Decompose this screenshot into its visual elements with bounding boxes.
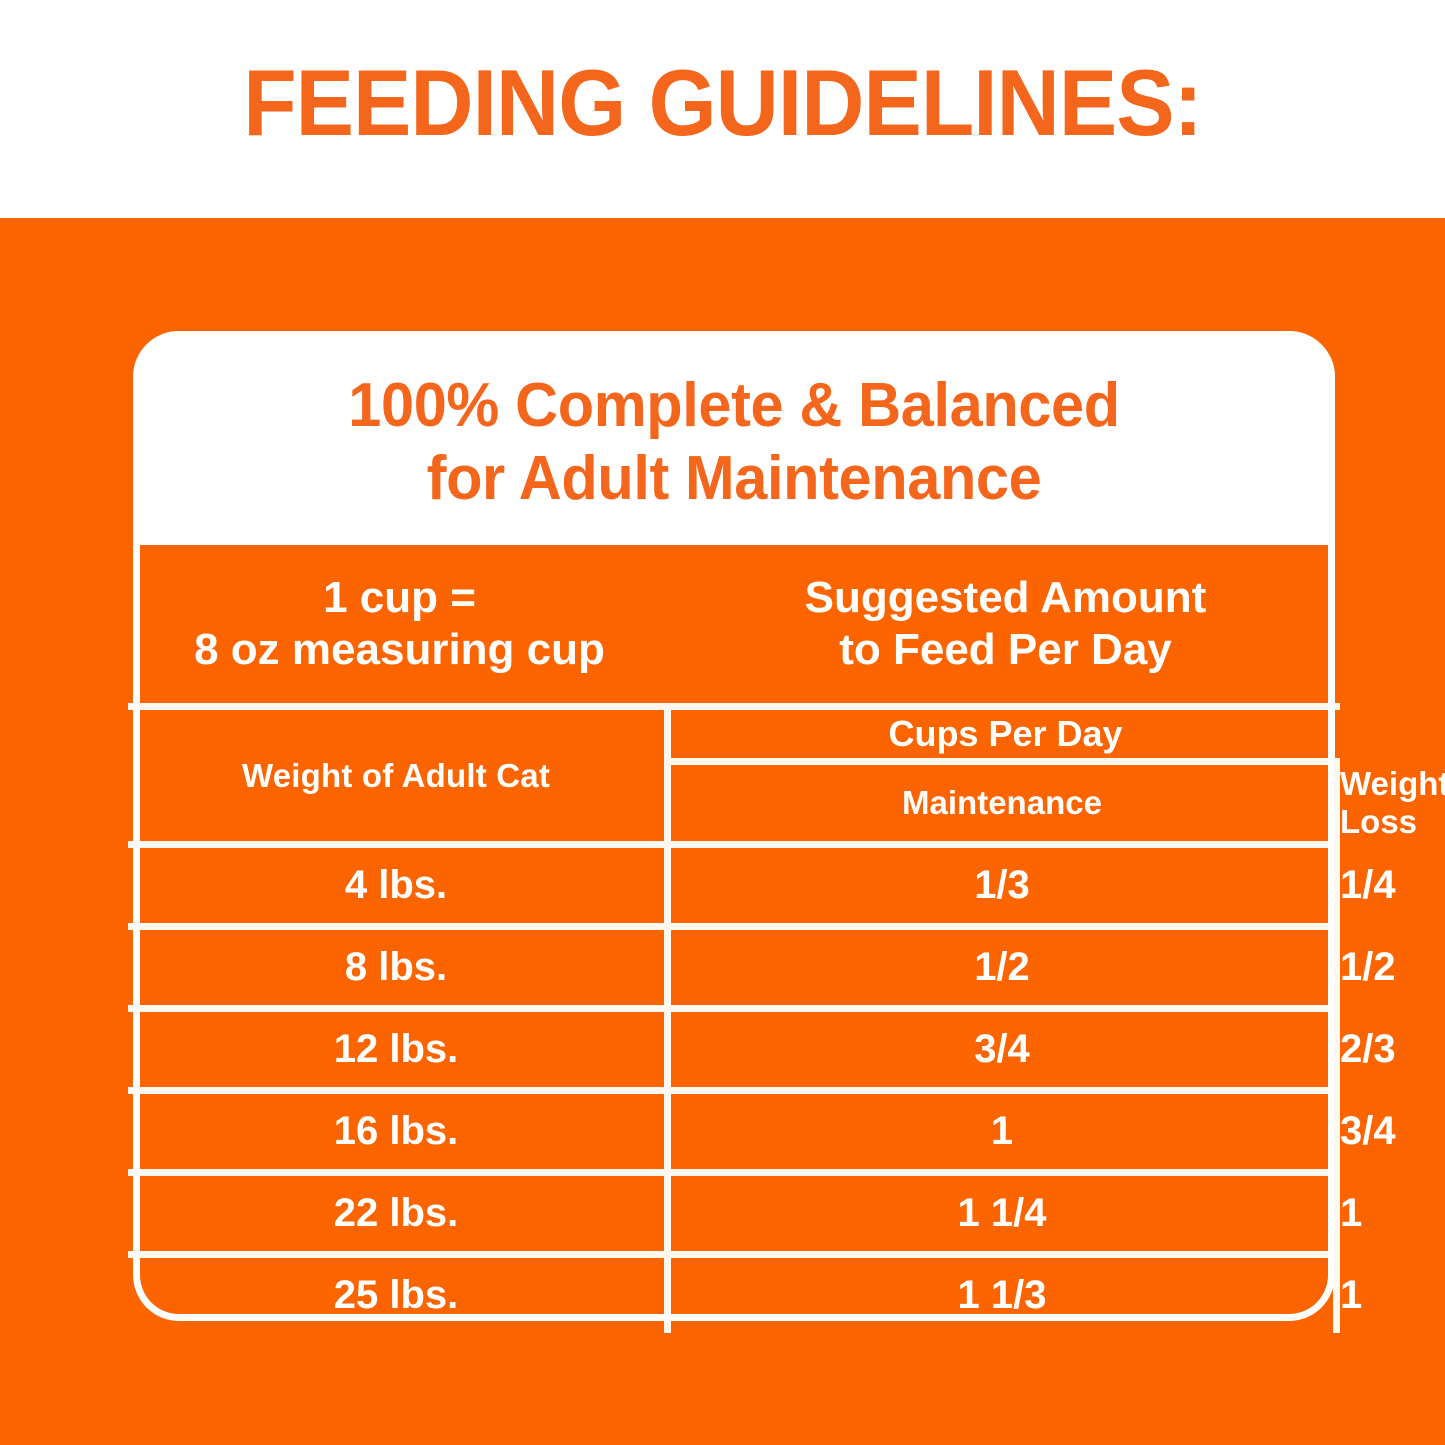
banner-cup-definition-line-1: 1 cup =	[128, 572, 671, 624]
guidelines-card: 100% Complete & Balanced for Adult Maint…	[133, 331, 1335, 1321]
cell-weight: 22 lbs.	[128, 1169, 671, 1251]
cell-maintenance: 1	[671, 1087, 1340, 1169]
banner-suggested-amount-line-2: to Feed Per Day	[671, 624, 1340, 676]
table-row: 25 lbs. 1 1/3 1	[128, 1251, 1340, 1333]
header-cups-per-day: Cups Per Day	[671, 703, 1340, 765]
table-row: 16 lbs. 1 3/4	[128, 1087, 1340, 1169]
cell-weight: 4 lbs.	[128, 841, 671, 923]
card-heading-line-2: for Adult Maintenance	[157, 442, 1311, 515]
feeding-guidelines-panel: FEEDING GUIDELINES: 100% Complete & Bala…	[0, 0, 1445, 1445]
cell-maintenance: 1 1/3	[671, 1251, 1340, 1333]
table-row: 8 lbs. 1/2 1/2	[128, 923, 1340, 1005]
cell-weight: 12 lbs.	[128, 1005, 671, 1087]
card-heading: 100% Complete & Balanced for Adult Maint…	[157, 369, 1311, 515]
cell-weight: 25 lbs.	[128, 1251, 671, 1333]
table-header-row-group: Weight of Adult Cat Cups Per Day	[128, 703, 1340, 765]
banner-cup-definition-line-2: 8 oz measuring cup	[128, 624, 671, 676]
table-row: 22 lbs. 1 1/4 1	[128, 1169, 1340, 1251]
header-maintenance: Maintenance	[671, 765, 1340, 841]
header-weight-of-adult-cat: Weight of Adult Cat	[128, 703, 671, 841]
cell-weight: 16 lbs.	[128, 1087, 671, 1169]
cell-maintenance: 1/2	[671, 923, 1340, 1005]
page-title: FEEDING GUIDELINES:	[51, 56, 1395, 150]
table-banner-row: 1 cup = 8 oz measuring cup Suggested Amo…	[128, 545, 1340, 703]
cell-maintenance: 1/3	[671, 841, 1340, 923]
card-heading-line-1: 100% Complete & Balanced	[157, 369, 1311, 442]
table-row: 12 lbs. 3/4 2/3	[128, 1005, 1340, 1087]
cell-maintenance: 3/4	[671, 1005, 1340, 1087]
title-band: FEEDING GUIDELINES:	[0, 0, 1445, 218]
feeding-table: 1 cup = 8 oz measuring cup Suggested Amo…	[128, 545, 1340, 1333]
table-row: 4 lbs. 1/3 1/4	[128, 841, 1340, 923]
banner-suggested-amount-line-1: Suggested Amount	[671, 572, 1340, 624]
banner-cup-definition: 1 cup = 8 oz measuring cup	[128, 545, 671, 703]
banner-suggested-amount: Suggested Amount to Feed Per Day	[671, 545, 1340, 703]
cell-maintenance: 1 1/4	[671, 1169, 1340, 1251]
cell-weight: 8 lbs.	[128, 923, 671, 1005]
